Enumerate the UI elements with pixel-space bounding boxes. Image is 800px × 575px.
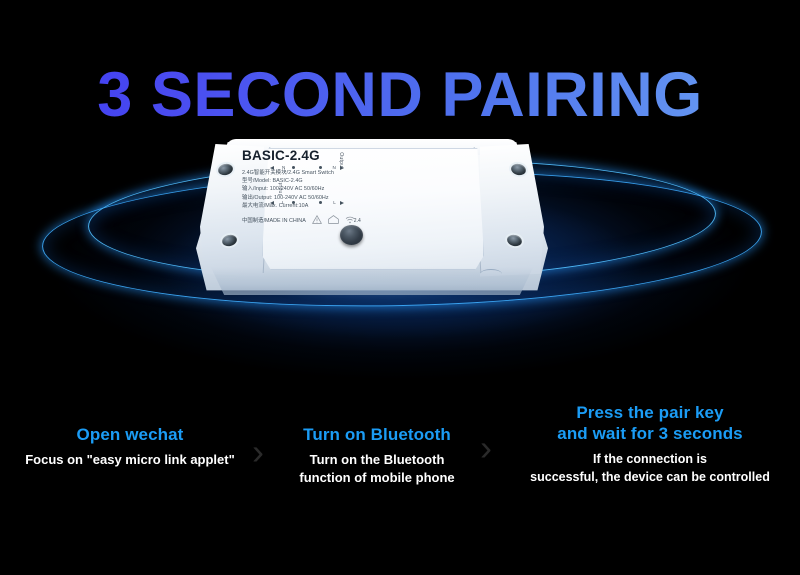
pair-key-button[interactable]	[340, 225, 363, 245]
device-spec-line: 最大电流/Max. Current:10A	[242, 202, 408, 210]
step-1-title: Open wechat	[10, 424, 250, 445]
terminal-dot-in-l	[292, 201, 295, 204]
terminal-output-n: N	[332, 165, 336, 170]
step-1: Open wechat Focus on "easy micro link ap…	[10, 424, 250, 469]
terminal-arrow-in-l	[270, 201, 274, 205]
terminal-input-label: Input	[278, 182, 284, 195]
terminal-arrow-out-l	[340, 201, 344, 205]
chevron-right-icon-1: ›	[252, 434, 264, 470]
step-2-title: Turn on Bluetooth	[268, 424, 486, 445]
step-2-desc: Turn on the Bluetoothfunction of mobile …	[268, 451, 486, 487]
terminal-arrow-out-n	[340, 166, 344, 170]
device-spec-line: 2.4G智能开关模块/2.4G Smart Switch	[242, 169, 408, 177]
terminal-arrow-in-n	[270, 166, 274, 170]
wifi-band-label: 2.4	[354, 218, 361, 224]
device-spec-line: 型号/Model: BASIC-2.4G	[242, 177, 408, 185]
step-3: Press the pair keyand wait for 3 seconds…	[500, 402, 800, 486]
terminal-dot-out-l	[319, 201, 322, 204]
terminal-output-l: L	[333, 200, 336, 205]
device-illustration: BASIC-2.4G 2.4G智能开关模块/2.4G Smart Switch …	[196, 139, 548, 307]
chevron-right-icon-2: ›	[480, 430, 492, 466]
step-3-title: Press the pair keyand wait for 3 seconds	[500, 402, 800, 444]
pairing-steps: Open wechat Focus on "easy micro link ap…	[0, 398, 800, 508]
device-spec-line: 输入/Input: 100-240V AC 50/60Hz	[242, 185, 408, 193]
device-lip-notch	[480, 269, 502, 279]
device-spec-list: 2.4G智能开关模块/2.4G Smart Switch 型号/Model: B…	[242, 169, 408, 210]
terminal-dot-in-n	[292, 166, 295, 169]
step-2: Turn on Bluetooth Turn on the Bluetoothf…	[268, 424, 486, 487]
device-mark-icons: 2.4	[312, 215, 361, 224]
house-icon	[328, 215, 339, 224]
page-title: 3 SECOND PAIRING	[0, 64, 800, 127]
device-model-title: BASIC-2.4G	[242, 148, 320, 163]
terminal-dot-out-n	[319, 166, 322, 169]
warning-triangle-icon	[312, 215, 322, 224]
terminal-input-l: L	[282, 200, 285, 205]
device-spec-line: 输出/Output: 100-240V AC 50/60Hz	[242, 194, 408, 202]
device-origin-row: 中国制造/MADE IN CHINA	[242, 215, 361, 224]
wifi-icon	[345, 216, 355, 224]
step-1-desc: Focus on "easy micro link applet"	[10, 451, 250, 469]
step-3-desc: If the connection issuccessful, the devi…	[500, 450, 800, 486]
promo-banner: 3 SECOND PAIRING BASIC-2.4G 2.4G智能开关模块/2…	[0, 0, 800, 575]
device-origin-text: 中国制造/MADE IN CHINA	[242, 216, 306, 224]
terminal-input-n: N	[282, 165, 286, 170]
